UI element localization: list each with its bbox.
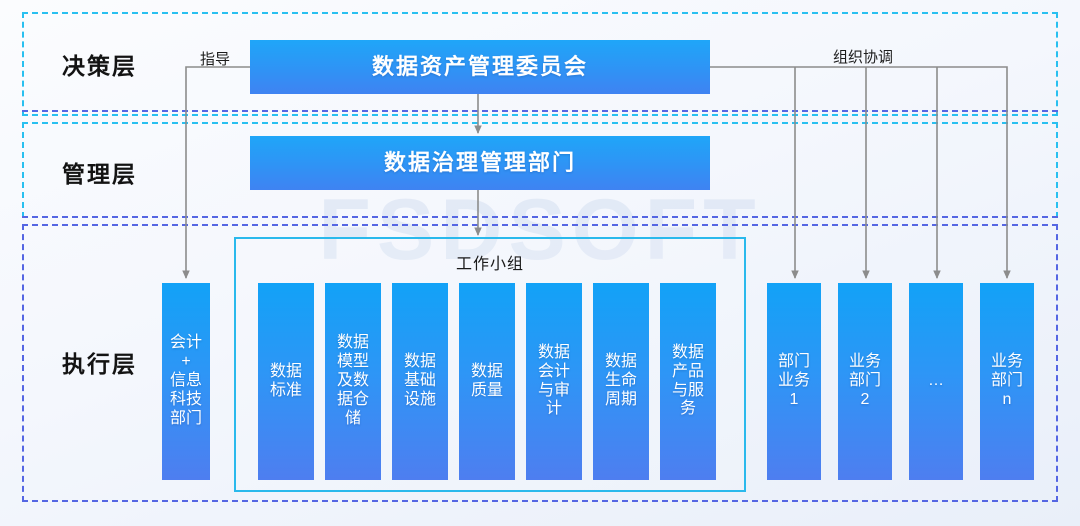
layer-divider-upper	[22, 110, 1058, 112]
node-working-group-item[interactable]: 数据 基础 设施	[392, 283, 448, 480]
edge-label-guidance: 指导	[200, 48, 230, 69]
edge-label-coordination: 组织协调	[833, 46, 893, 67]
node-working-group-item[interactable]: 数据 质量	[459, 283, 515, 480]
node-working-group-item[interactable]: 数据 生命 周期	[593, 283, 649, 480]
node-business-unit[interactable]: 业务 部门 n	[980, 283, 1034, 480]
node-accounting-it-dept[interactable]: 会计 + 信息 科技 部门	[162, 283, 210, 480]
node-working-group-item[interactable]: 数据 标准	[258, 283, 314, 480]
node-data-governance-dept[interactable]: 数据治理管理部门	[250, 136, 710, 190]
node-working-group-item[interactable]: 数据 会计 与审 计	[526, 283, 582, 480]
working-group-title: 工作小组	[234, 250, 746, 274]
layer-label-management: 管理层	[62, 155, 137, 189]
node-data-asset-committee[interactable]: 数据资产管理委员会	[250, 40, 710, 94]
node-working-group-item[interactable]: 数据 产品 与服 务	[660, 283, 716, 480]
layer-divider-lower	[22, 216, 1058, 218]
node-working-group-item[interactable]: 数据 模型 及数 据仓 储	[325, 283, 381, 480]
node-business-unit-ellipsis[interactable]: …	[909, 283, 963, 480]
node-business-unit[interactable]: 部门 业务 1	[767, 283, 821, 480]
node-business-unit[interactable]: 业务 部门 2	[838, 283, 892, 480]
layer-label-execution: 执行层	[62, 345, 137, 379]
layer-label-decision: 决策层	[62, 47, 137, 81]
diagram-canvas: 决策层 管理层 执行层 指导 组织协调 数据资产管理委员会 数据治理管理部门 会…	[0, 0, 1080, 526]
